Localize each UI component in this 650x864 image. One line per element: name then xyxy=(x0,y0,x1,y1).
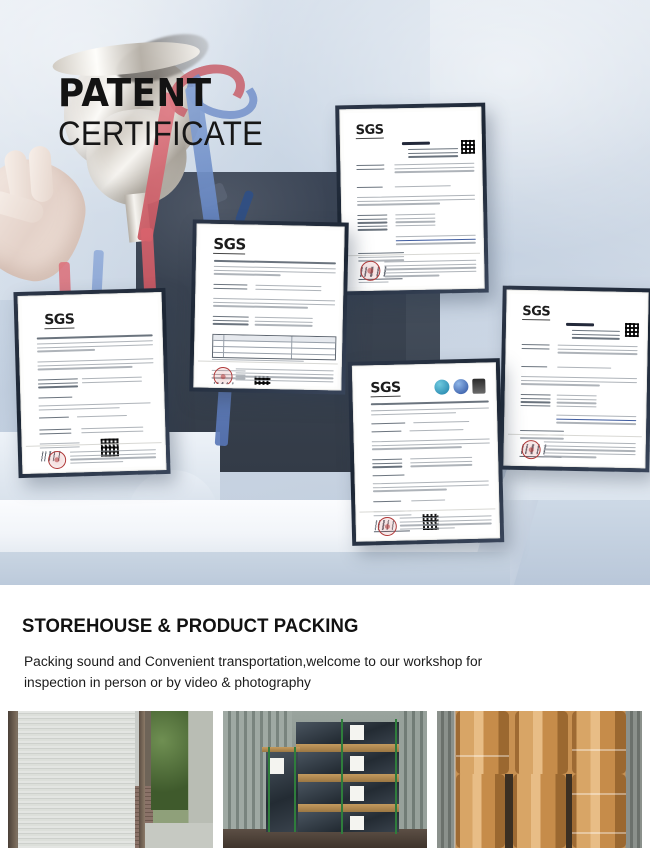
company-stamp xyxy=(378,517,397,536)
doc-subsection-value xyxy=(77,415,127,420)
certificate-mat: SGS xyxy=(352,362,500,541)
shipping-label xyxy=(350,816,364,830)
doc-footer-text xyxy=(70,449,156,466)
doc-field-labels xyxy=(213,284,247,292)
doc-signer-block xyxy=(520,430,564,442)
doc-date-values xyxy=(255,317,313,329)
certificate-document: SGS xyxy=(197,228,340,387)
kraft-roll xyxy=(456,774,505,848)
doc-address-block xyxy=(371,407,489,417)
doc-subsection-label xyxy=(39,417,69,421)
sgs-logo: SGS xyxy=(522,305,550,321)
door-frame-right xyxy=(139,711,145,848)
certificate-mat: SGS xyxy=(193,223,344,390)
foliage xyxy=(151,711,188,810)
photo-kraft-rolls[interactable] xyxy=(437,711,642,848)
doc-header-fields xyxy=(572,330,620,342)
kraft-roll xyxy=(515,711,568,774)
doc-section-label xyxy=(357,187,383,191)
doc-field-labels xyxy=(520,394,550,409)
doc-section-body xyxy=(39,402,151,412)
certificate-mat: SGS xyxy=(503,290,648,469)
doc-footer-text xyxy=(384,260,476,280)
green-strap xyxy=(395,719,397,834)
section-subtext: Packing sound and Convenient transportat… xyxy=(24,652,548,694)
photo-warehouse-sheets[interactable] xyxy=(8,711,213,848)
hero-banner: PATENT CERTIFICATE SGS xyxy=(0,0,650,585)
doc-label-block xyxy=(356,165,384,173)
doc-paragraph xyxy=(372,438,490,452)
container-wall-right xyxy=(399,711,428,848)
certificate-frame-left[interactable]: SGS xyxy=(13,288,170,478)
doc-result-values xyxy=(81,427,143,436)
doc-field-labels xyxy=(38,378,78,390)
accreditation-logo-ukas xyxy=(472,379,485,394)
shipping-label xyxy=(350,756,364,771)
shipping-label xyxy=(350,725,364,740)
wrapped-goods xyxy=(296,752,398,774)
certificate-document: SGS xyxy=(356,366,496,537)
accreditation-logo-ilac xyxy=(453,379,468,394)
sgs-logo: SGS xyxy=(44,312,75,329)
roll-wrap-band xyxy=(572,832,625,834)
sgs-logo: SGS xyxy=(356,124,384,140)
roll-gap xyxy=(566,774,572,848)
kraft-roll xyxy=(572,711,625,774)
qr-code xyxy=(624,322,640,338)
certificate-frame-right[interactable]: SGS xyxy=(499,286,650,473)
doc-paragraph xyxy=(521,376,637,389)
doc-subsection-label xyxy=(371,431,401,435)
certificate-frame-top[interactable]: SGS xyxy=(335,103,489,296)
doc-result-label xyxy=(373,501,401,505)
doc-value-block xyxy=(557,345,637,357)
shipping-label xyxy=(350,786,364,801)
doc-paragraph xyxy=(213,298,335,311)
podium-main-face xyxy=(0,552,510,585)
doc-footer-text xyxy=(400,515,492,532)
wrapped-goods xyxy=(296,812,398,831)
doc-field-values xyxy=(255,285,321,294)
kraft-roll xyxy=(456,711,509,774)
qr-code xyxy=(460,139,476,155)
sheet-stack xyxy=(18,711,135,848)
container-wall-right xyxy=(626,711,642,848)
doc-header-fields xyxy=(408,148,458,160)
wooden-pallet xyxy=(296,774,398,782)
doc-field-labels xyxy=(372,459,402,470)
photo-gallery xyxy=(8,711,642,848)
doc-date-labels xyxy=(213,316,249,327)
doc-section-label xyxy=(521,366,547,370)
certificate-document: SGS xyxy=(343,111,480,288)
doc-address-block xyxy=(214,266,336,279)
doc-section-value xyxy=(395,185,451,190)
certificate-frame-bottom[interactable]: SGS xyxy=(348,358,504,546)
hero-title-line-2: CERTIFICATE xyxy=(58,117,263,151)
doc-field-values xyxy=(556,395,596,410)
hero-title-line-1: PATENT xyxy=(58,74,268,112)
certificate-document: SGS xyxy=(507,294,644,465)
doc-title-bar xyxy=(566,323,594,326)
doc-paragraph xyxy=(37,358,153,372)
container-wall-left xyxy=(437,711,453,848)
ground xyxy=(143,823,213,848)
doc-label-block xyxy=(522,344,550,352)
green-strap xyxy=(268,747,270,832)
section-heading: STOREHOUSE & PRODUCT PACKING xyxy=(22,615,358,638)
doc-field-values xyxy=(395,214,435,229)
door-frame-left xyxy=(8,711,16,848)
doc-result-lines xyxy=(396,235,476,247)
roll-gap xyxy=(505,774,513,848)
doc-address-block xyxy=(37,340,153,354)
hand-finger xyxy=(28,145,54,202)
green-strap xyxy=(294,747,296,832)
results-table xyxy=(212,334,336,361)
doc-footer-text xyxy=(543,441,635,461)
hero-title: PATENT CERTIFICATE xyxy=(58,74,281,151)
doc-paragraph xyxy=(357,195,475,208)
photo-container-pallets[interactable] xyxy=(223,711,428,848)
wrapped-goods xyxy=(296,782,398,804)
page-root: PATENT CERTIFICATE SGS xyxy=(0,0,650,864)
doc-title-bar xyxy=(402,142,430,145)
doc-field-labels xyxy=(357,214,387,232)
shipping-label xyxy=(270,758,284,774)
doc-field-values xyxy=(82,377,142,386)
doc-section-label xyxy=(371,422,405,426)
doc-subsection-value xyxy=(409,429,463,434)
doc-header-row xyxy=(371,400,489,407)
roll-wrap-band xyxy=(572,749,625,751)
doc-section-value xyxy=(413,421,469,426)
kraft-roll xyxy=(513,774,566,848)
roll-wrap-band xyxy=(572,793,625,795)
doc-value-block xyxy=(394,163,474,175)
certificate-frame-middle[interactable]: SGS xyxy=(189,219,349,394)
doc-footer-text xyxy=(235,368,333,384)
container-floor xyxy=(223,829,428,848)
signature-caption xyxy=(359,281,389,285)
doc-section-label xyxy=(38,397,72,402)
sgs-logo: SGS xyxy=(213,237,246,255)
wrapped-goods xyxy=(296,722,398,744)
certificate-mat: SGS xyxy=(339,107,484,292)
doc-result-value xyxy=(411,500,445,504)
doc-field-values xyxy=(410,457,472,469)
doc-conclusion-body xyxy=(373,480,489,494)
wooden-pallet xyxy=(296,804,398,812)
doc-conclusion-label xyxy=(373,475,405,479)
kraft-roll xyxy=(572,774,625,848)
green-strap xyxy=(341,719,343,834)
accreditation-logo-cnas xyxy=(434,379,449,394)
doc-result-lines xyxy=(556,415,636,427)
certificate-document: SGS xyxy=(22,296,163,470)
roll-wrap-band xyxy=(456,755,509,757)
company-stamp xyxy=(48,451,66,469)
doc-result-labels xyxy=(39,429,71,437)
sgs-logo: SGS xyxy=(370,381,401,398)
doc-section-value xyxy=(557,367,611,372)
certificate-mat: SGS xyxy=(18,292,167,474)
wooden-pallet xyxy=(296,744,398,752)
